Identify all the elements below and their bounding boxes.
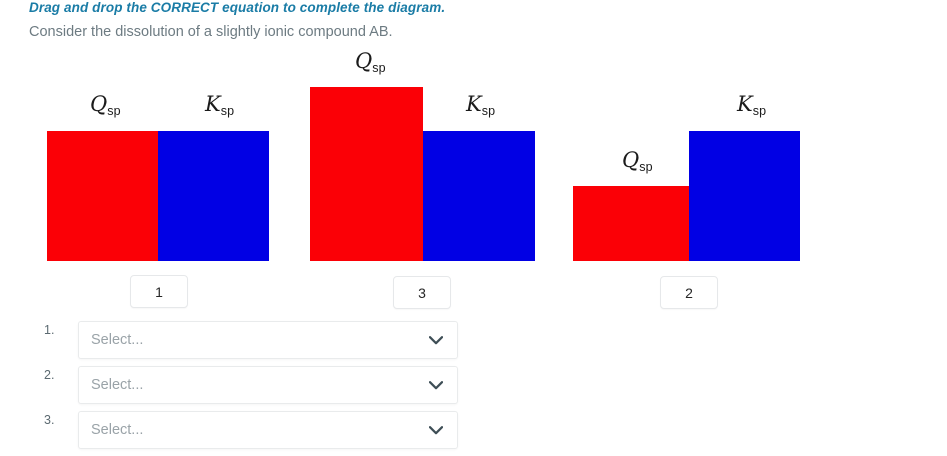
subscript-sp: sp xyxy=(639,160,653,174)
answer-select-2-placeholder: Select... xyxy=(79,377,423,393)
symbol-k: K xyxy=(737,92,753,116)
bar-ksp-group-1 xyxy=(158,131,269,261)
answer-list: 1. Select... 2. Select... 3. Select... xyxy=(0,318,500,453)
answer-select-1-placeholder: Select... xyxy=(79,332,423,348)
bar-group-2 xyxy=(573,131,800,261)
diagram-number-label: 1 xyxy=(155,284,163,300)
bar-group-3 xyxy=(310,87,535,261)
bar-label-ksp-group-1: Ksp xyxy=(205,94,234,118)
chevron-down-icon[interactable] xyxy=(423,426,449,435)
symbol-k: K xyxy=(466,92,482,116)
answer-select-3-placeholder: Select... xyxy=(79,422,423,438)
bar-ksp-group-2 xyxy=(689,131,800,261)
bar-label-qsp-group-1: Qsp xyxy=(90,94,121,118)
diagram-number-label: 3 xyxy=(418,285,426,301)
bar-label-ksp-group-3: Ksp xyxy=(466,94,495,118)
subscript-sp: sp xyxy=(221,104,235,118)
answer-select-3[interactable]: Select... xyxy=(78,411,458,449)
symbol-k: K xyxy=(205,92,221,116)
subscript-sp: sp xyxy=(753,104,767,118)
bar-qsp-group-2 xyxy=(573,186,689,261)
answer-index-2: 2. xyxy=(44,368,54,382)
answer-row-1: 1. Select... xyxy=(0,318,500,363)
symbol-q: Q xyxy=(90,92,107,116)
answer-select-1[interactable]: Select... xyxy=(78,321,458,359)
bar-label-ksp-group-2: Ksp xyxy=(737,94,766,118)
bar-group-1 xyxy=(47,131,269,261)
answer-row-3: 3. Select... xyxy=(0,408,500,453)
subscript-sp: sp xyxy=(372,61,386,75)
bar-ksp-group-3 xyxy=(423,131,535,261)
answer-index-1: 1. xyxy=(44,323,54,337)
bar-qsp-group-1 xyxy=(47,131,158,261)
subscript-sp: sp xyxy=(107,104,121,118)
diagram-number-box-3[interactable]: 3 xyxy=(393,276,451,309)
answer-row-2: 2. Select... xyxy=(0,363,500,408)
bar-diagram-area: Qsp Ksp 1 Qsp Ksp 3 Qsp Ksp 2 xyxy=(0,0,947,320)
chevron-down-icon[interactable] xyxy=(423,381,449,390)
chevron-down-icon[interactable] xyxy=(423,336,449,345)
subscript-sp: sp xyxy=(482,104,496,118)
symbol-q: Q xyxy=(622,148,639,172)
bar-label-qsp-group-3: Qsp xyxy=(355,51,386,75)
diagram-number-box-2[interactable]: 2 xyxy=(660,276,718,309)
answer-index-3: 3. xyxy=(44,413,54,427)
symbol-q: Q xyxy=(355,49,372,73)
bar-qsp-group-3 xyxy=(310,87,423,261)
answer-select-2[interactable]: Select... xyxy=(78,366,458,404)
bar-label-qsp-group-2: Qsp xyxy=(622,150,653,174)
diagram-number-label: 2 xyxy=(685,285,693,301)
diagram-number-box-1[interactable]: 1 xyxy=(130,275,188,308)
